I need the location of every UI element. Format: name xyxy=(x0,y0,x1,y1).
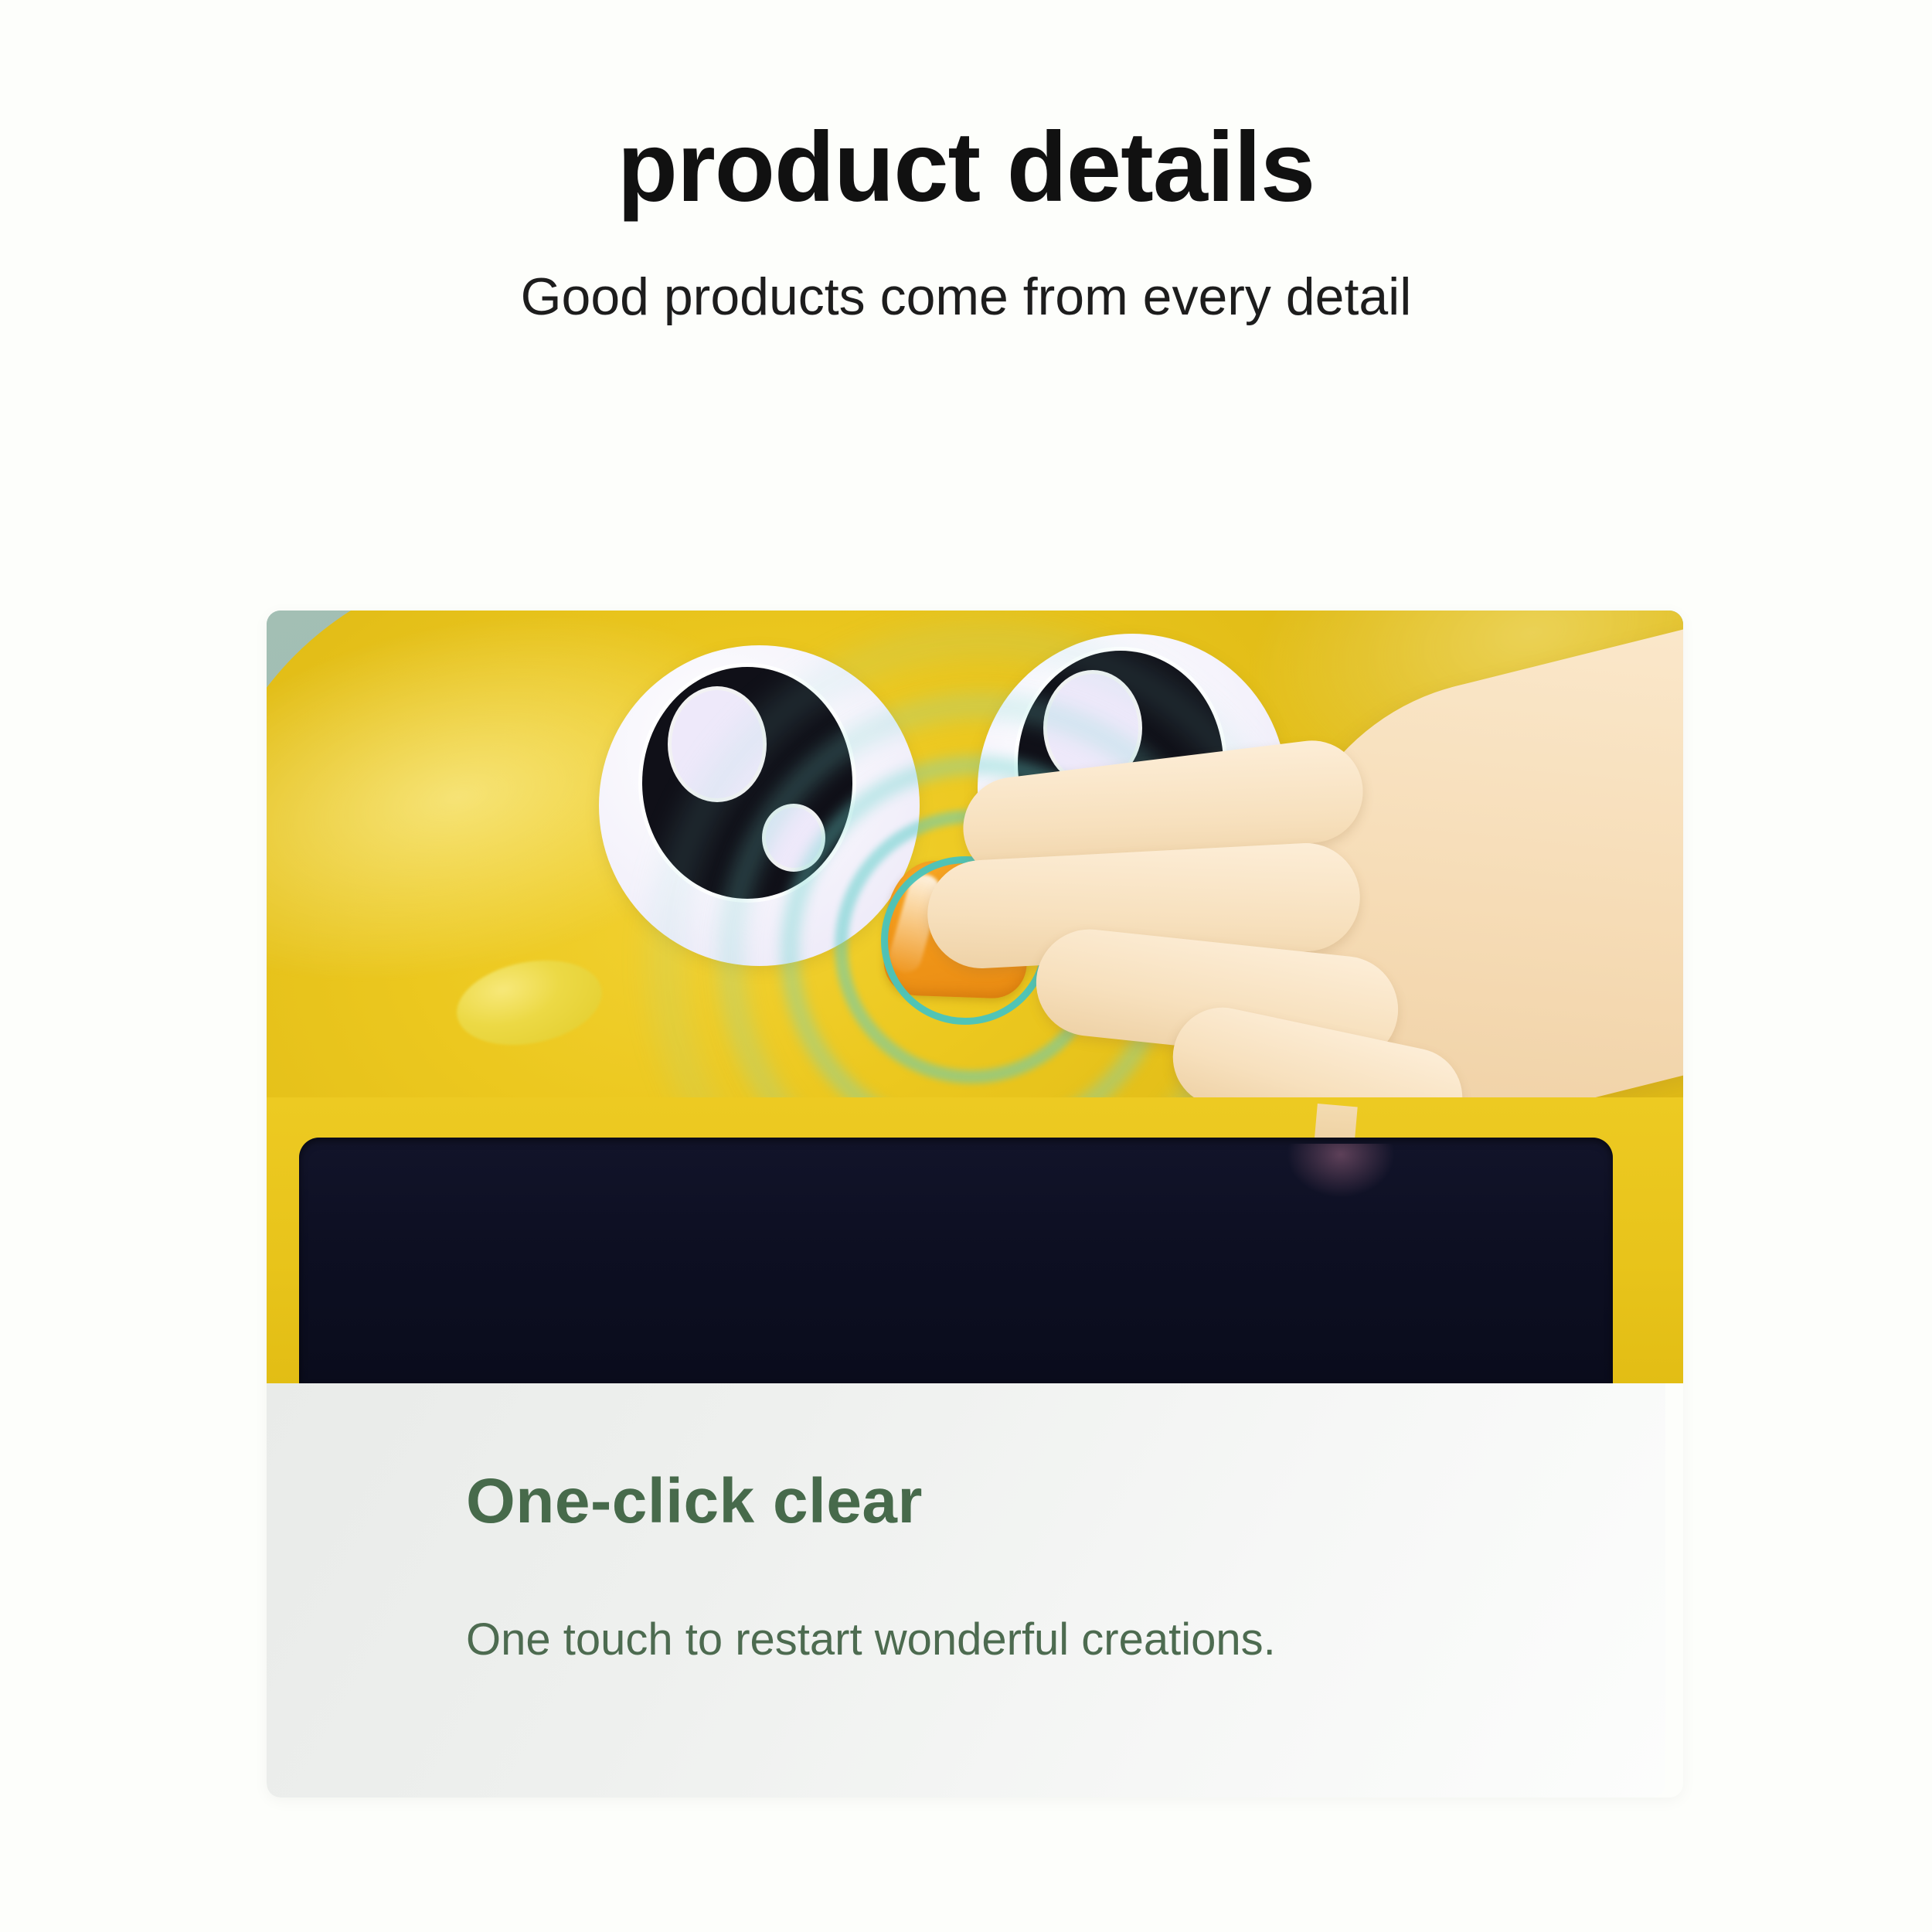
eye-glint-small-icon xyxy=(766,808,821,868)
page-title: product details xyxy=(0,116,1932,219)
eye-left-icon xyxy=(599,645,920,966)
pupil-left-icon xyxy=(642,667,852,899)
feature-card: One-click clear One touch to restart won… xyxy=(267,611,1683,1798)
page-header: product details Good products come from … xyxy=(0,0,1932,329)
feature-description: One touch to restart wonderful creations… xyxy=(466,1612,1276,1668)
screen-glow-icon xyxy=(1287,1144,1395,1198)
feature-caption-panel: One-click clear One touch to restart won… xyxy=(267,1383,1665,1798)
eye-glint-large-icon xyxy=(672,690,763,798)
lcd-writing-screen[interactable] xyxy=(299,1138,1613,1383)
feature-heading: One-click clear xyxy=(466,1467,923,1536)
product-photo xyxy=(267,611,1683,1383)
page-subtitle: Good products come from every detail xyxy=(0,266,1932,329)
